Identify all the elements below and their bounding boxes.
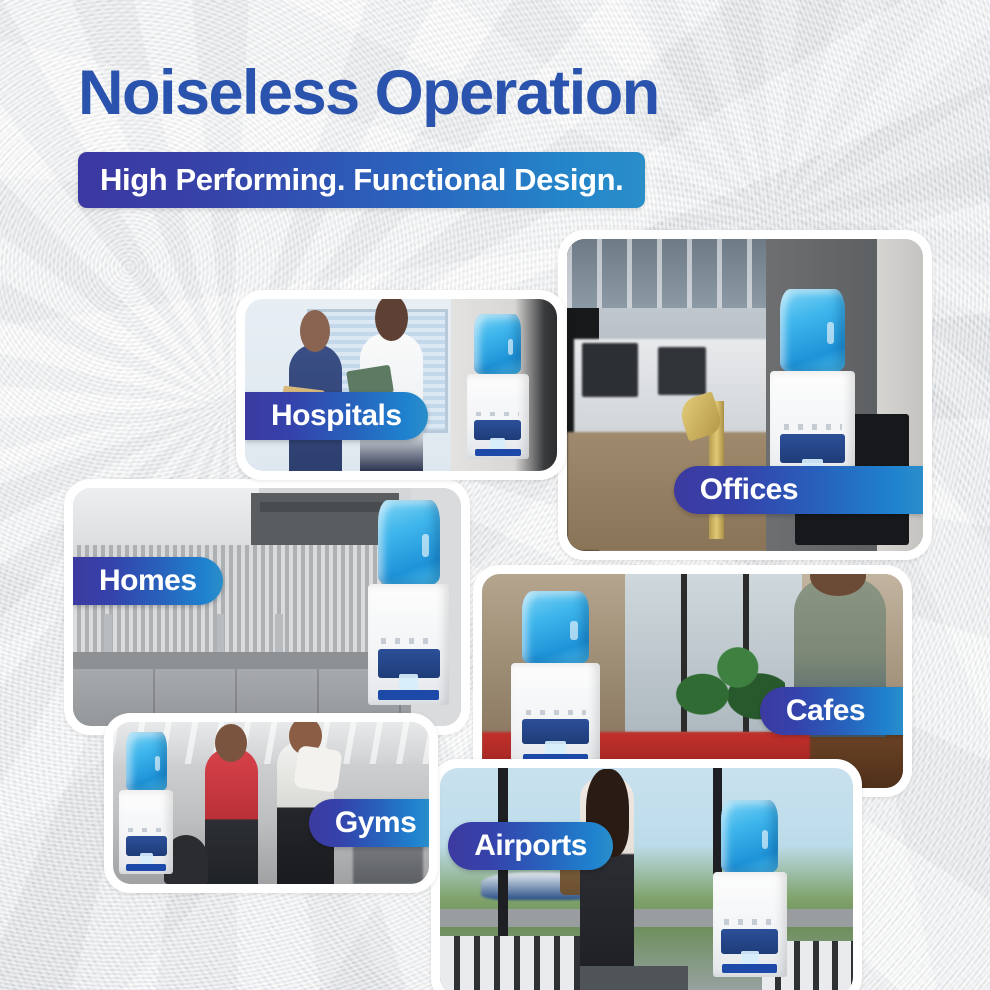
water-cooler-icon: [511, 591, 599, 766]
water-jug-icon: [721, 800, 777, 874]
water-jug-icon: [378, 500, 440, 586]
card-airports[interactable]: Airports: [431, 759, 862, 990]
card-label-offices[interactable]: Offices: [674, 466, 923, 514]
card-label-text: Hospitals: [271, 399, 402, 433]
card-label-text: Gyms: [335, 806, 416, 840]
card-label-text: Offices: [700, 473, 798, 507]
water-cooler-icon: [713, 800, 787, 977]
subtitle-text: High Performing. Functional Design.: [100, 162, 623, 198]
subtitle-banner: High Performing. Functional Design.: [78, 152, 645, 208]
water-cooler-icon: [467, 314, 529, 458]
office-ceiling: [567, 239, 773, 308]
page-headline: Noiseless Operation: [78, 58, 918, 129]
cooler-glass: [741, 951, 759, 966]
airports-photo: Airports: [440, 768, 853, 990]
kitchen-faucet: [217, 614, 225, 652]
cooler-body: [119, 790, 173, 874]
gym-towel: [294, 745, 344, 793]
cooler-drip-tray: [378, 690, 438, 700]
card-offices[interactable]: Offices: [558, 230, 932, 560]
cooler-buttons: [526, 710, 586, 715]
office-desks: [574, 339, 773, 439]
cooler-buttons: [381, 638, 436, 644]
cooler-drip-tray: [126, 864, 166, 871]
card-label-cafes[interactable]: Cafes: [760, 687, 903, 735]
cooler-glass: [545, 741, 566, 755]
card-label-text: Cafes: [786, 694, 865, 728]
card-hospitals[interactable]: Hospitals: [236, 290, 566, 480]
cooler-body: [467, 374, 529, 459]
gyms-photo: Gyms: [113, 722, 429, 884]
cooler-buttons: [128, 828, 165, 832]
water-cooler-icon: [368, 500, 449, 705]
cooler-body: [511, 663, 599, 767]
card-label-text: Homes: [99, 564, 197, 598]
cooler-buttons: [476, 412, 518, 416]
water-jug-icon: [126, 732, 167, 792]
card-label-gyms[interactable]: Gyms: [309, 799, 429, 847]
card-label-homes[interactable]: Homes: [73, 557, 223, 605]
hospitals-photo: Hospitals: [245, 299, 557, 471]
kitchen-upper-cabinet: [73, 488, 259, 545]
airport-seats-left: [440, 936, 580, 990]
water-jug-icon: [474, 314, 521, 375]
homes-photo: Homes: [73, 488, 461, 726]
water-jug-icon: [780, 289, 845, 373]
card-homes[interactable]: Homes: [64, 479, 470, 735]
cooler-body: [713, 872, 787, 976]
card-label-hospitals[interactable]: Hospitals: [245, 392, 428, 440]
water-jug-icon: [522, 591, 589, 665]
cooler-drip-tray: [475, 449, 521, 456]
card-label-text: Airports: [474, 829, 587, 863]
kitchen-faucet: [104, 614, 112, 652]
cooler-buttons: [724, 919, 775, 924]
water-cooler-icon: [119, 732, 173, 875]
water-cooler-icon: [770, 289, 855, 489]
woman-in-red-figure: [205, 748, 259, 884]
offices-photo: Offices: [567, 239, 923, 551]
cooler-buttons: [784, 424, 842, 430]
cooler-body: [368, 584, 449, 705]
kitchen-faucet: [275, 614, 283, 652]
cooler-glass: [490, 438, 505, 450]
card-label-airports[interactable]: Airports: [448, 822, 613, 870]
cooler-glass: [399, 674, 419, 691]
cafes-photo: Cafes: [482, 574, 903, 788]
traveler-figure: [580, 777, 634, 977]
cooler-drip-tray: [722, 964, 777, 972]
card-gyms[interactable]: Gyms: [104, 713, 438, 893]
